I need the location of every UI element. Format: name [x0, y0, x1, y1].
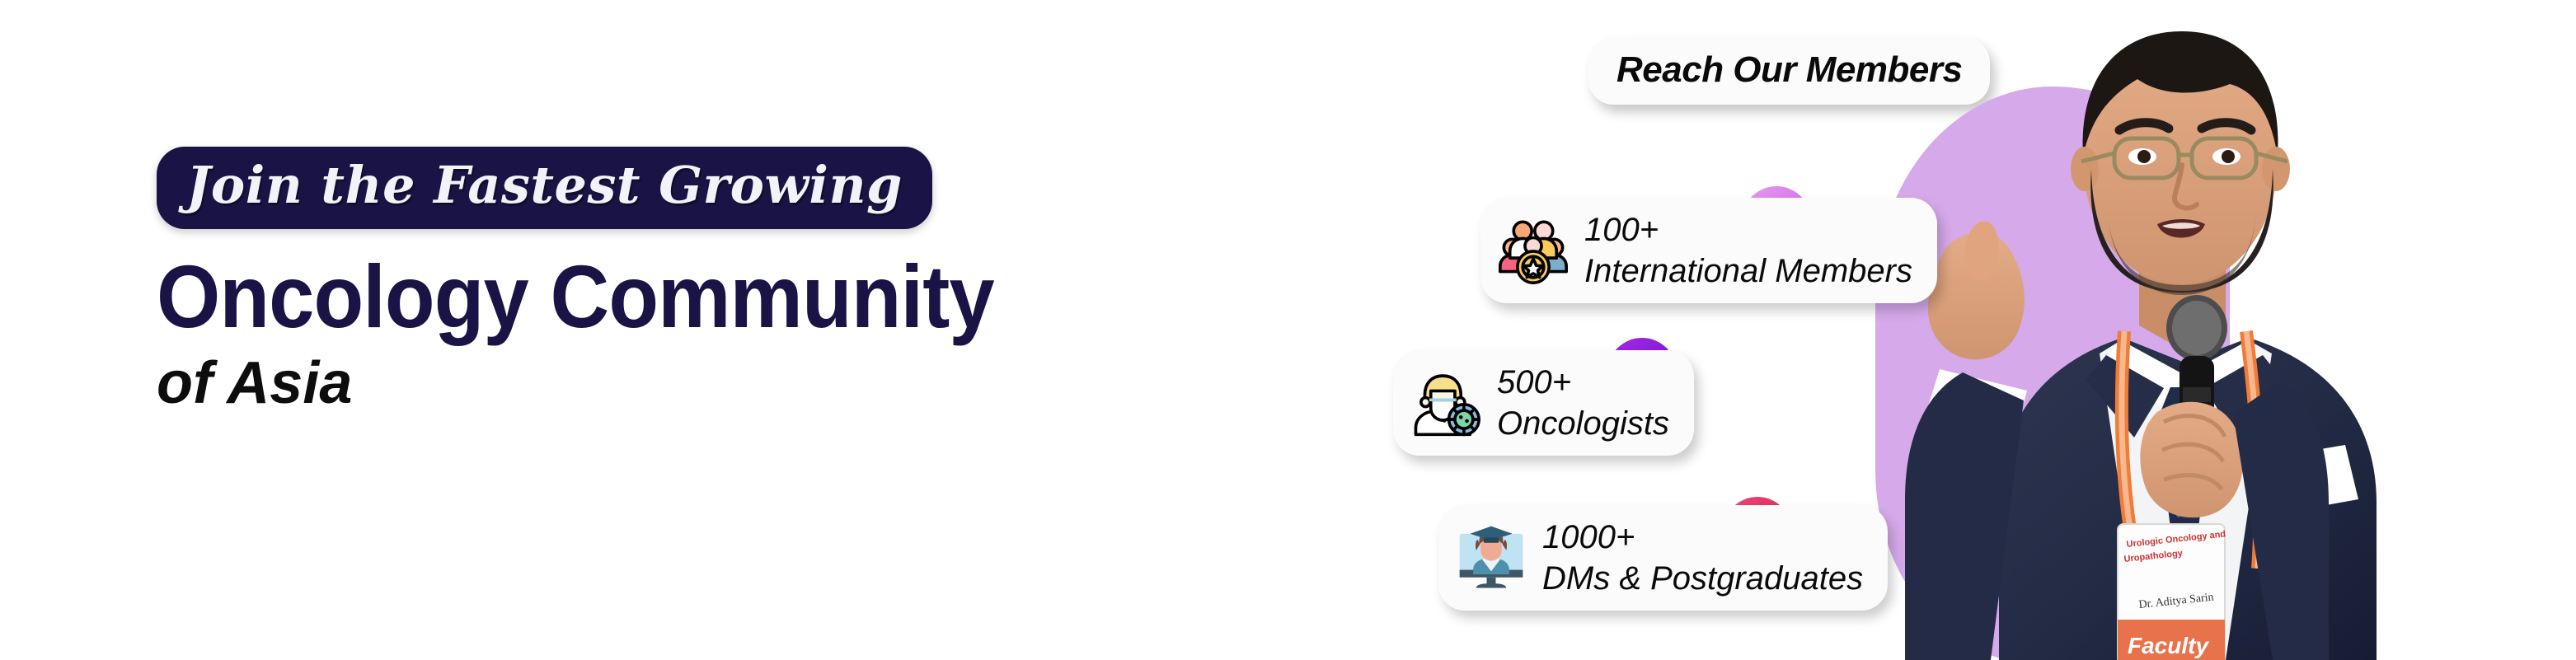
badge-role: Faculty	[2128, 633, 2209, 658]
stat-card-international-members[interactable]: 100+ International Members	[1480, 198, 1937, 303]
hero-text-block: Join the Fastest Growing Oncology Commun…	[157, 147, 1311, 417]
page-subtitle: of Asia	[157, 351, 1311, 416]
group-people-star-icon	[1495, 216, 1571, 285]
stat-value: 500+	[1497, 362, 1669, 403]
stat-card-dms-postgraduates[interactable]: 1000+ DMs & Postgraduates	[1438, 505, 1888, 611]
stat-value: 1000+	[1542, 517, 1863, 558]
stat-label: International Members	[1584, 250, 1912, 292]
eyebrow-label: Join the Fastest Growing	[186, 160, 903, 211]
stat-card-oncologists[interactable]: 500+ Oncologists	[1393, 350, 1694, 456]
stat-label: Oncologists	[1497, 403, 1669, 444]
page-title: Oncology Community	[157, 250, 1218, 343]
stat-label: DMs & Postgraduates	[1542, 558, 1863, 599]
stat-card-text: 100+ International Members	[1584, 209, 1912, 292]
stat-card-text: 500+ Oncologists	[1497, 362, 1669, 444]
doctor-virus-icon	[1408, 368, 1484, 438]
stat-value: 100+	[1584, 209, 1912, 250]
graduate-monitor-icon	[1453, 523, 1529, 592]
eyebrow-badge: Join the Fastest Growing	[157, 147, 932, 229]
stat-card-text: 1000+ DMs & Postgraduates	[1542, 517, 1863, 599]
